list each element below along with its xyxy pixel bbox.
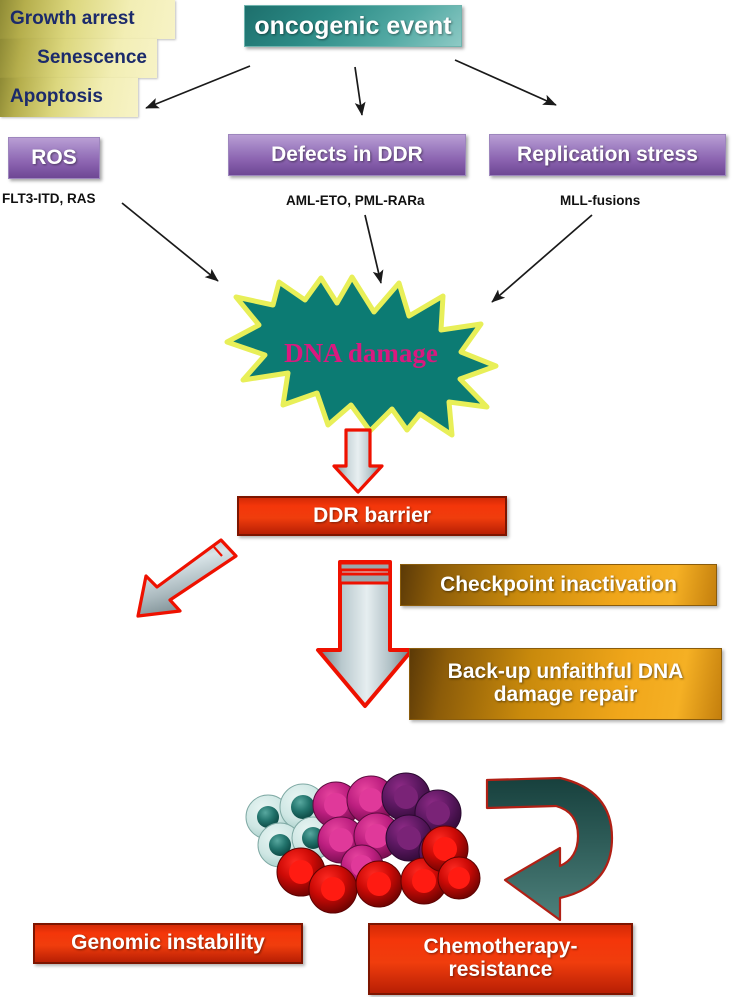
ddr-barrier-label: DDR barrier [313,505,431,528]
connector-replication-stress-to-dna-damage [492,215,592,302]
ros-label: ROS [31,147,77,170]
oncogenic-event-label: oncogenic event [254,13,451,40]
figure-canvas: DNA damage [0,0,732,997]
node-backup-repair[interactable]: Back-up unfaithful DNA damage repair [409,648,722,720]
defects-in-ddr-label: Defects in DDR [271,144,423,167]
connector-ros-to-dna-damage [122,203,218,281]
node-replication-stress[interactable]: Replication stress [489,134,726,176]
dna-damage-starburst: DNA damage [227,277,496,435]
connector-tumor-to-chemoresistance [487,778,612,920]
connector-oncogenic-to-ros [146,66,250,108]
node-ddr-barrier[interactable]: DDR barrier [237,496,507,536]
node-genomic-instability[interactable]: Genomic instability [33,923,303,964]
node-ros[interactable]: ROS [8,137,100,179]
connector-ddr-barrier-bypass [318,562,412,706]
chemotherapy-resistance-label-line1: Chemotherapy- [423,936,577,959]
connector-ddr-barrier-to-outcomes [138,540,236,616]
connector-defects-ddr-to-dna-damage [365,215,381,283]
node-chemotherapy-resistance[interactable]: Chemotherapy- resistance [368,923,633,995]
annotation-ros-genes: FLT3-ITD, RAS [2,191,96,206]
backup-repair-label-line2: damage repair [494,684,638,707]
node-defects-in-ddr[interactable]: Defects in DDR [228,134,466,176]
node-checkpoint-inactivation[interactable]: Checkpoint inactivation [400,564,717,606]
genomic-instability-label: Genomic instability [71,932,265,955]
replication-stress-label: Replication stress [517,144,698,167]
node-oncogenic-event[interactable]: oncogenic event [244,5,462,47]
checkpoint-inactivation-label: Checkpoint inactivation [440,574,677,597]
connector-oncogenic-to-defects-ddr [355,67,362,115]
annotation-replication-genes: MLL-fusions [560,193,640,208]
chemotherapy-resistance-label-line2: resistance [449,959,553,982]
connector-dna-damage-to-ddr-barrier [334,430,382,492]
connector-oncogenic-to-replication-stress [455,60,556,105]
tumor-cell-cluster [246,773,480,913]
annotation-ddr-genes: AML-ETO, PML-RARa [286,193,425,208]
dna-damage-label: DNA damage [284,338,438,368]
backup-repair-label-line1: Back-up unfaithful DNA [448,661,684,684]
